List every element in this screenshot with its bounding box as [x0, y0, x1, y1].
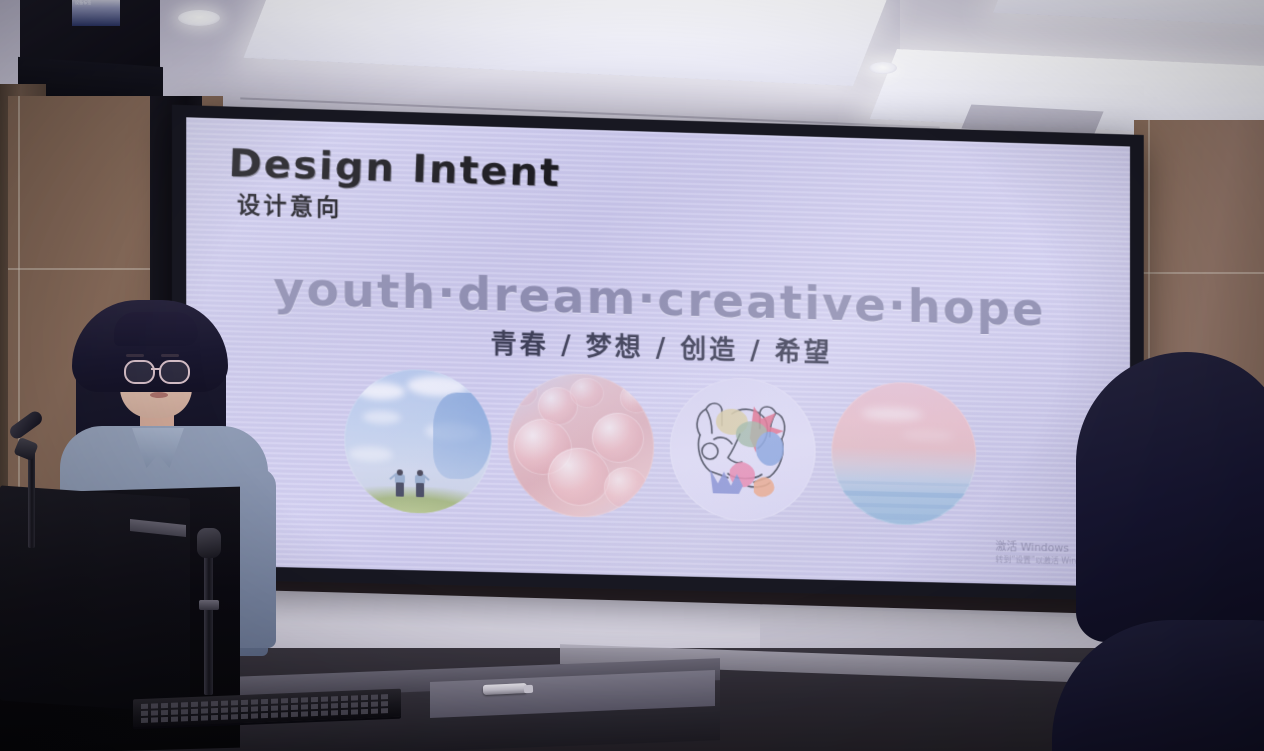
gooseneck-microphone-pole — [28, 452, 35, 548]
presenter-eyebrow — [161, 354, 179, 357]
glasses-lens-left — [124, 360, 155, 384]
presenter-eyebrow — [126, 354, 144, 357]
presentation-room-photo: 设备标签 Design Intent 设计意向 youth·dream·crea… — [0, 0, 1264, 751]
slide-image-row — [186, 359, 1130, 533]
wall-seam — [1134, 272, 1264, 274]
laser-pointer[interactable] — [483, 683, 527, 695]
presentation-slide[interactable]: Design Intent 设计意向 youth·dream·creative·… — [186, 117, 1130, 587]
slide-image-sunset-sea — [831, 380, 976, 526]
audience-shoulders — [1052, 620, 1264, 751]
slide-slogan-en: youth·dream·creative·hope — [273, 261, 1045, 338]
microphone-grip-band — [199, 600, 219, 610]
led-screen-bezel: Design Intent 设计意向 youth·dream·creative·… — [172, 105, 1144, 601]
laser-pointer-tip — [524, 685, 533, 693]
presenter-fringe — [114, 312, 198, 346]
slide-image-students-in-field — [344, 367, 491, 514]
glasses-bridge — [151, 368, 161, 370]
line-art-icon — [670, 376, 816, 523]
handheld-microphone-head — [197, 528, 221, 558]
slide-image-line-art-face — [670, 376, 816, 523]
slide-image-pink-bubbles — [508, 371, 654, 518]
handheld-microphone-pole — [204, 545, 213, 695]
audience-hair — [1076, 352, 1264, 642]
equipment-label: 设备标签 — [72, 0, 120, 26]
audience-member — [1062, 352, 1264, 751]
slide-title-cn: 设计意向 — [237, 185, 342, 222]
glasses-lens-right — [159, 360, 190, 384]
ceiling-downlight — [178, 10, 220, 26]
presenter-mouth — [150, 392, 168, 398]
ceiling-downlight — [869, 62, 897, 74]
